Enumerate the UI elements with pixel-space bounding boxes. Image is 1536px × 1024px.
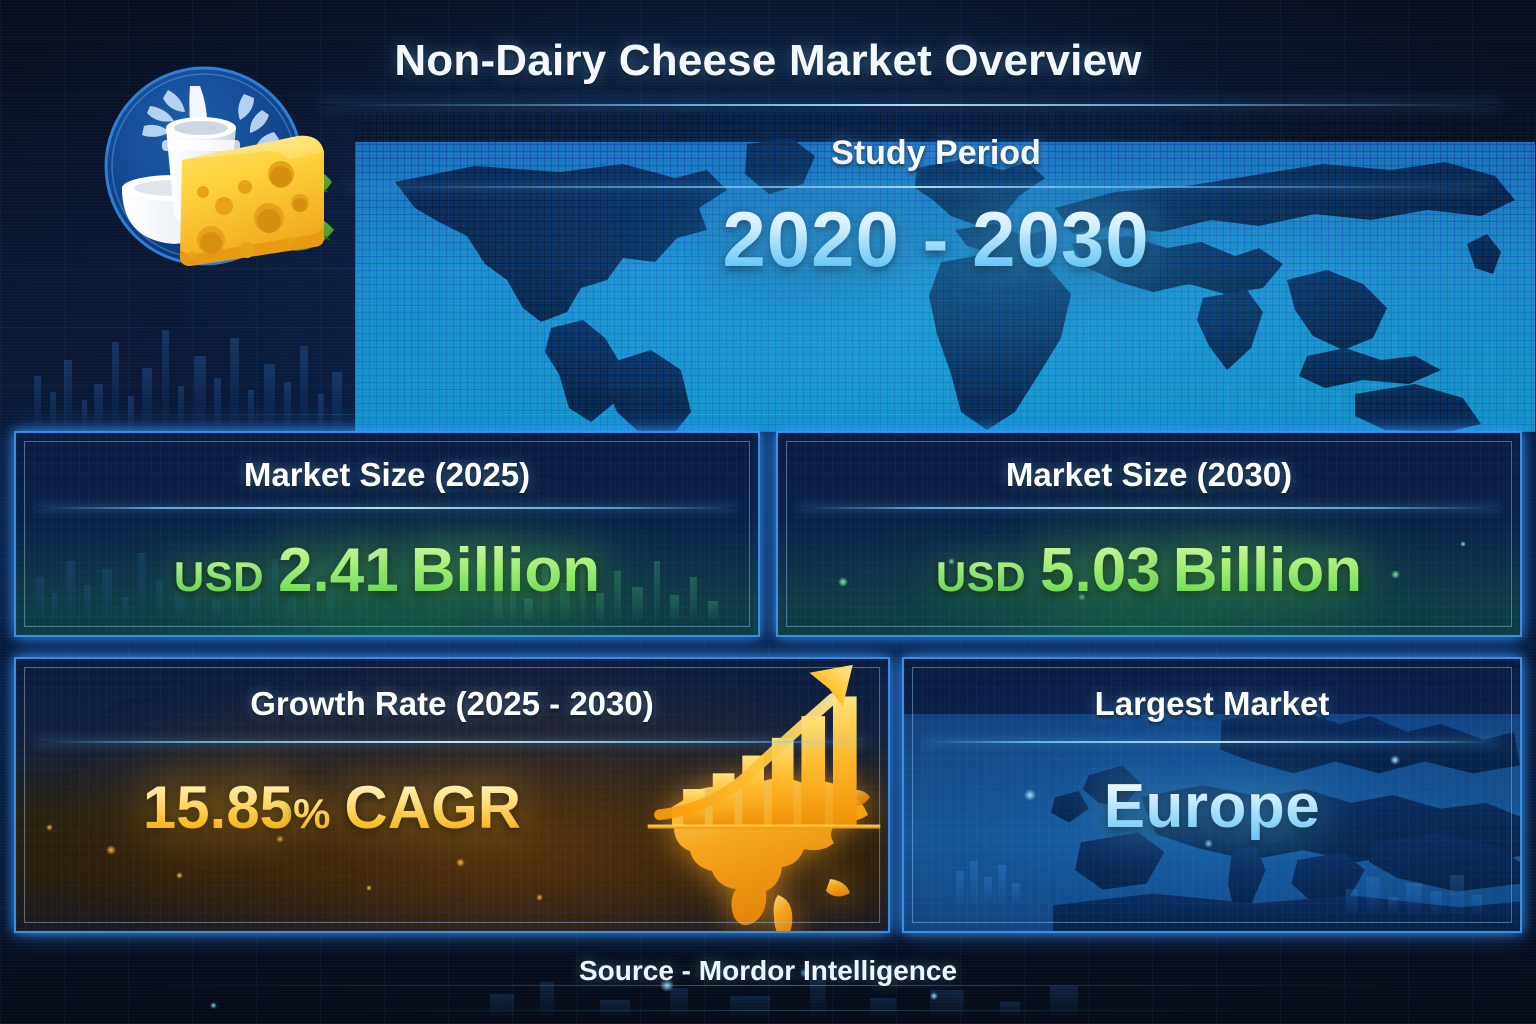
amount-value: 5.03: [1040, 536, 1161, 605]
card-divider: [36, 507, 738, 509]
market-size-2025-value: USD2.41Billion: [16, 535, 758, 606]
card-divider: [924, 741, 1500, 743]
largest-market-label: Largest Market: [904, 685, 1520, 723]
market-size-2030-card[interactable]: Market Size (2030) USD5.03Billion: [776, 431, 1522, 637]
cagr-amount: 15.85: [143, 774, 293, 841]
light-streak-mid: [0, 414, 1536, 415]
background-bars-left: [28, 300, 358, 430]
largest-market-value: Europe: [904, 771, 1520, 842]
glow-dot: [930, 992, 938, 1000]
glow-dot: [210, 1002, 217, 1009]
currency-label: USD: [174, 553, 264, 600]
growth-rate-value: 15.85%CAGR: [16, 773, 648, 842]
infographic-poster: Non-Dairy Cheese Market Overview Study P…: [0, 0, 1536, 1024]
amount-value: 2.41: [278, 536, 399, 605]
cagr-label: CAGR: [344, 774, 521, 841]
study-period-divider: [340, 186, 1490, 188]
market-size-2030-value: USD5.03Billion: [778, 535, 1520, 606]
card-divider: [798, 507, 1500, 509]
growth-rate-label: Growth Rate (2025 - 2030): [16, 685, 888, 723]
market-size-2025-label: Market Size (2025): [16, 456, 758, 494]
market-size-2030-label: Market Size (2030): [778, 456, 1520, 494]
unit-label: Billion: [411, 536, 600, 605]
market-size-2025-card[interactable]: Market Size (2025) USD2.41Billion: [14, 431, 760, 637]
growth-rate-card[interactable]: Growth Rate (2025 - 2030) 15.85%CAGR: [14, 657, 890, 933]
source-attribution: Source - Mordor Intelligence: [0, 955, 1536, 987]
light-streak-footer-b: [300, 1010, 1300, 1011]
background-bars-right: [1216, 300, 1526, 430]
study-period-label: Study Period: [476, 134, 1396, 173]
title-divider: [320, 104, 1500, 106]
study-period-value: 2020 - 2030: [476, 194, 1396, 285]
unit-label: Billion: [1173, 536, 1362, 605]
largest-market-card[interactable]: Largest Market Europe: [902, 657, 1522, 933]
currency-label: USD: [936, 553, 1026, 600]
card-divider: [36, 741, 868, 743]
dairy-cheese-icon: [84, 48, 354, 298]
percent-sign: %: [293, 790, 330, 837]
